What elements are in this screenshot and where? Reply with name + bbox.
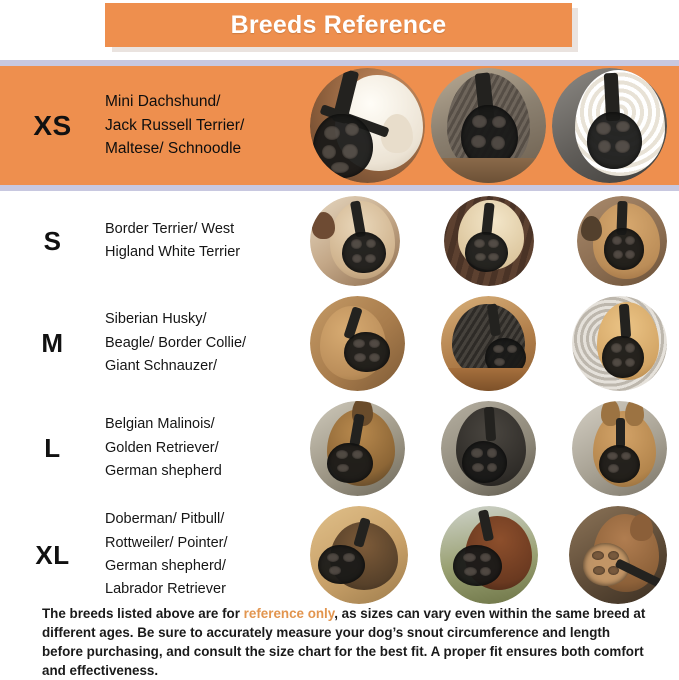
basket-muzzle xyxy=(599,445,641,483)
breeds-line: Belgian Malinois/ xyxy=(105,413,300,436)
breeds-line: German shepherd xyxy=(105,460,300,483)
basket-muzzle xyxy=(313,114,373,178)
photo-group-m xyxy=(304,296,679,391)
dog-photo xyxy=(572,401,667,496)
dog-photo xyxy=(431,68,546,183)
basket-muzzle xyxy=(602,336,644,378)
photo-group-xs xyxy=(304,68,679,183)
breeds-line: Border Terrier/ West xyxy=(105,218,300,241)
muzzle-strap xyxy=(618,303,631,338)
header-bar: Breeds Reference xyxy=(105,3,572,47)
dog-photo xyxy=(572,296,667,391)
basket-muzzle xyxy=(604,228,644,269)
footer-part1: The breeds listed above are for xyxy=(42,606,244,621)
dog-ear xyxy=(625,401,644,426)
breeds-table: XS Mini Dachshund/ Jack Russell Terrier/… xyxy=(0,60,679,609)
basket-muzzle xyxy=(344,332,390,372)
photo-foreground xyxy=(441,368,536,391)
dog-photo xyxy=(552,68,667,183)
breeds-text-s: Border Terrier/ West Higland White Terri… xyxy=(105,218,304,265)
breeds-line: Doberman/ Pitbull/ xyxy=(105,508,300,531)
photo-group-l xyxy=(304,401,679,496)
dog-photo xyxy=(441,401,536,496)
photo-group-s xyxy=(304,196,679,286)
dog-ear xyxy=(630,514,654,541)
breeds-text-m: Siberian Husky/ Beagle/ Border Collie/ G… xyxy=(105,308,304,378)
dog-photo xyxy=(310,506,408,604)
muzzle-strap xyxy=(484,406,496,441)
table-row-xl: XL Doberman/ Pitbull/ Rottweiler/ Pointe… xyxy=(0,501,679,609)
photo-foreground xyxy=(431,158,546,183)
dog-photo xyxy=(569,506,667,604)
dog-photo xyxy=(441,296,536,391)
breeds-line: Siberian Husky/ xyxy=(105,308,300,331)
breeds-line: Mini Dachshund/ xyxy=(105,90,300,114)
dog-photo xyxy=(440,506,538,604)
header: Breeds Reference xyxy=(0,0,679,60)
size-label-xl: XL xyxy=(0,540,105,571)
breeds-line: Higland White Terrier xyxy=(105,241,300,264)
footer-highlight: reference only xyxy=(244,606,335,621)
muzzle-strap xyxy=(616,418,626,448)
photo-group-xl xyxy=(304,506,679,604)
footer-disclaimer: The breeds listed above are for referenc… xyxy=(42,604,647,680)
size-label-m: M xyxy=(0,328,105,359)
dog-photo xyxy=(444,196,534,286)
basket-muzzle xyxy=(453,545,502,586)
breeds-text-xl: Doberman/ Pitbull/ Rottweiler/ Pointer/ … xyxy=(105,508,304,602)
basket-muzzle xyxy=(465,232,508,272)
breeds-line: Labrador Retriever xyxy=(105,578,300,601)
basket-muzzle xyxy=(587,112,642,170)
dog-photo xyxy=(577,196,667,286)
page-title: Breeds Reference xyxy=(231,11,447,40)
table-row-m: M Siberian Husky/ Beagle/ Border Collie/… xyxy=(0,291,679,396)
dog-photo xyxy=(310,196,400,286)
size-label-l: L xyxy=(0,433,105,464)
size-label-s: S xyxy=(0,226,105,257)
breeds-line: Giant Schnauzer/ xyxy=(105,355,300,378)
breeds-line: Beagle/ Border Collie/ xyxy=(105,332,300,355)
breeds-line: German shepherd/ xyxy=(105,555,300,578)
size-label-xs: XS xyxy=(0,110,105,142)
basket-muzzle xyxy=(327,443,373,483)
table-row-xs: XS Mini Dachshund/ Jack Russell Terrier/… xyxy=(0,60,679,191)
breeds-text-xs: Mini Dachshund/ Jack Russell Terrier/ Ma… xyxy=(105,90,304,161)
dog-photo xyxy=(310,296,405,391)
table-row-s: S Border Terrier/ West Higland White Ter… xyxy=(0,191,679,291)
breeds-line: Jack Russell Terrier/ xyxy=(105,114,300,138)
dog-photo xyxy=(310,68,425,183)
dog-ear xyxy=(312,212,335,239)
basket-muzzle xyxy=(342,232,385,273)
basket-muzzle xyxy=(462,441,508,483)
breeds-line: Rottweiler/ Pointer/ xyxy=(105,532,300,555)
breeds-line: Golden Retriever/ xyxy=(105,437,300,460)
breeds-text-l: Belgian Malinois/ Golden Retriever/ Germ… xyxy=(105,413,304,483)
dog-ear xyxy=(581,216,603,241)
dog-photo xyxy=(310,401,405,496)
basket-muzzle xyxy=(318,545,365,584)
table-row-l: L Belgian Malinois/ Golden Retriever/ Ge… xyxy=(0,396,679,501)
breeds-line: Maltese/ Schnoodle xyxy=(105,137,300,161)
